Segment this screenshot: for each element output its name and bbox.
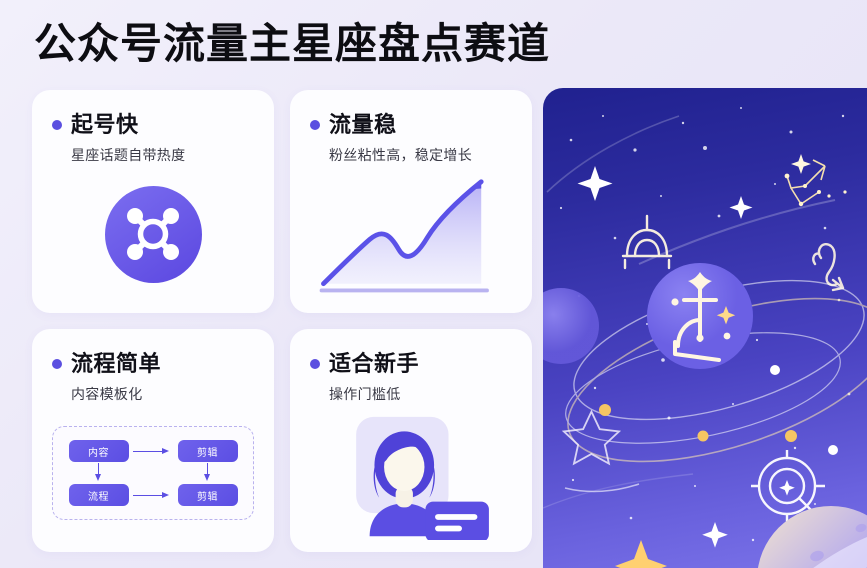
growth-chart-icon (310, 171, 512, 301)
card-header: 适合新手 (310, 351, 512, 377)
bullet-dot-icon (310, 359, 320, 369)
flow-arrow-down-right (203, 463, 213, 483)
card-title: 起号快 (71, 112, 139, 138)
flow-diagram: 内容 剪辑 流程 剪辑 (52, 426, 254, 520)
card-subtitle: 操作门槛低 (329, 384, 512, 404)
card-subtitle: 内容模板化 (71, 384, 254, 404)
card-title: 流量稳 (329, 112, 397, 138)
flow-node-3[interactable]: 流程 (69, 484, 129, 506)
bullet-dot-icon (52, 120, 62, 130)
flow-arrow-right-bottom (133, 490, 173, 500)
card-artwork: 内容 剪辑 流程 剪辑 (52, 410, 254, 536)
card-title: 流程简单 (71, 351, 161, 377)
card-title: 适合新手 (329, 351, 419, 377)
flow-node-2[interactable]: 剪辑 (178, 440, 238, 462)
feature-card-liuchengjiandan[interactable]: 流程简单 内容模板化 内容 剪辑 流程 剪辑 (32, 329, 274, 552)
bullet-dot-icon (52, 359, 62, 369)
flow-arrow-right-top (133, 446, 173, 456)
card-header: 起号快 (52, 112, 254, 138)
feature-card-grid: 起号快 星座话题自带热度 流量稳 (32, 90, 532, 552)
card-artwork (310, 410, 512, 540)
card-subtitle: 粉丝粘性高，稳定增长 (329, 145, 512, 165)
feature-card-qihaokuai[interactable]: 起号快 星座话题自带热度 (32, 90, 274, 313)
card-subtitle: 星座话题自带热度 (71, 145, 254, 165)
flow-arrow-down-left (94, 463, 104, 483)
card-header: 流程简单 (52, 351, 254, 377)
card-artwork (52, 171, 254, 297)
flow-node-1[interactable]: 内容 (69, 440, 129, 462)
network-node-circle-icon (105, 186, 202, 283)
page-title: 公众号流量主星座盘点赛道 (34, 18, 550, 70)
card-artwork (310, 171, 512, 301)
flow-spacer (133, 463, 173, 483)
starry-zodiac-illustration (543, 88, 867, 568)
flow-node-4[interactable]: 剪辑 (178, 484, 238, 506)
beginner-avatar-illustration (310, 410, 512, 540)
feature-card-shihexinshou[interactable]: 适合新手 操作门槛低 (290, 329, 532, 552)
feature-card-liuliangwen[interactable]: 流量稳 粉丝粘性高，稳定增长 (290, 90, 532, 313)
bullet-dot-icon (310, 120, 320, 130)
card-header: 流量稳 (310, 112, 512, 138)
